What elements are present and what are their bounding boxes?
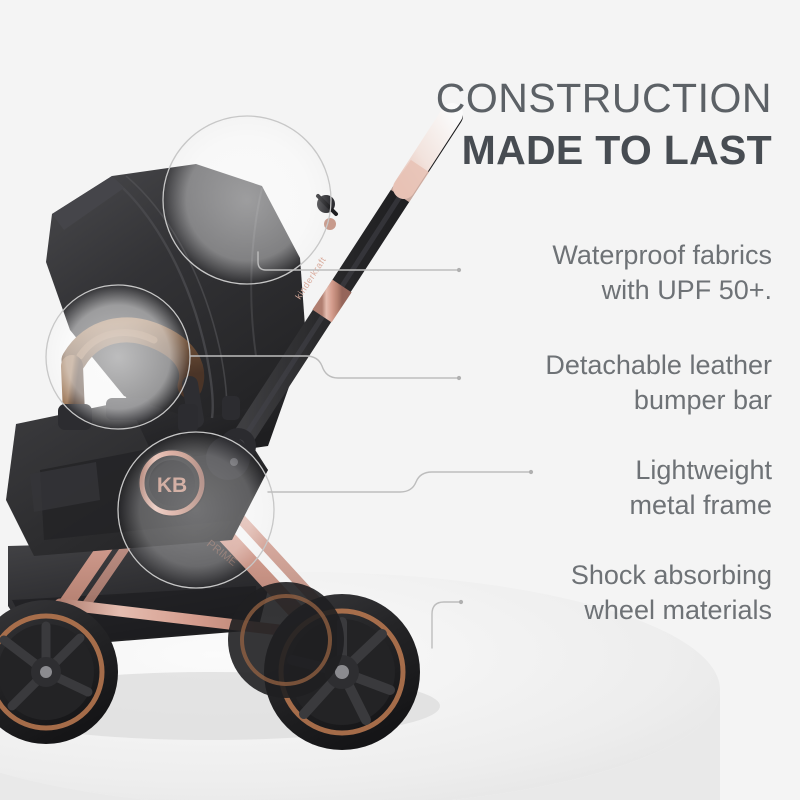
feature-label-lightweight-metal-frame: Lightweight metal frame bbox=[452, 453, 772, 523]
feature-line-1: Waterproof fabrics bbox=[452, 238, 772, 273]
feature-line-2: bumper bar bbox=[452, 383, 772, 418]
feature-label-waterproof-fabrics: Waterproof fabrics with UPF 50+. bbox=[452, 238, 772, 308]
feature-line-2: with UPF 50+. bbox=[452, 273, 772, 308]
page-title: CONSTRUCTION MADE TO LAST bbox=[400, 72, 772, 176]
title-line-construction: CONSTRUCTION bbox=[400, 72, 772, 124]
feature-line-1: Lightweight bbox=[452, 453, 772, 488]
feature-line-2: wheel materials bbox=[452, 593, 772, 628]
feature-label-detachable-leather-bumper-bar: Detachable leather bumper bar bbox=[452, 348, 772, 418]
feature-line-1: Shock absorbing bbox=[452, 558, 772, 593]
product-infographic: kinderkraft KB bbox=[0, 0, 800, 800]
feature-line-2: metal frame bbox=[452, 488, 772, 523]
feature-label-shock-absorbing-wheel-materials: Shock absorbing wheel materials bbox=[452, 558, 772, 628]
title-line-made-to-last: MADE TO LAST bbox=[400, 124, 772, 176]
feature-line-1: Detachable leather bbox=[452, 348, 772, 383]
connector-bumper bbox=[190, 356, 458, 378]
connector-waterproof bbox=[258, 252, 458, 270]
